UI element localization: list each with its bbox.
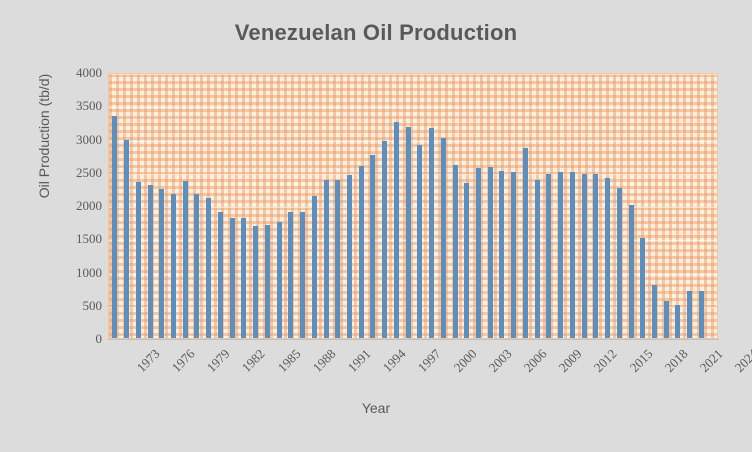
x-axis-tick: 2006 — [521, 346, 551, 376]
bar — [394, 122, 399, 338]
x-axis-tick: 1976 — [169, 346, 199, 376]
bar — [406, 127, 411, 338]
bar — [675, 305, 680, 338]
bar — [664, 301, 669, 338]
bar-series — [109, 74, 717, 338]
x-axis-tick: 1979 — [204, 346, 234, 376]
bar — [499, 171, 504, 338]
bar — [136, 182, 141, 338]
bar — [253, 226, 258, 338]
x-axis-tick: 1991 — [345, 346, 375, 376]
bar — [441, 138, 446, 338]
bar — [523, 148, 528, 338]
bar — [640, 238, 645, 338]
x-axis-tick: 1994 — [380, 346, 410, 376]
bar — [300, 212, 305, 338]
x-axis-tick: 2000 — [450, 346, 480, 376]
bar — [218, 212, 223, 338]
bar — [593, 174, 598, 338]
bar — [476, 168, 481, 338]
plot-area — [108, 73, 718, 339]
bar — [241, 218, 246, 338]
x-axis-tick: 1985 — [274, 346, 304, 376]
bar — [699, 291, 704, 338]
bar — [206, 198, 211, 338]
bar — [535, 180, 540, 338]
bar — [570, 172, 575, 338]
x-axis-tick: 2003 — [485, 346, 515, 376]
bar — [605, 178, 610, 338]
bar — [335, 180, 340, 338]
bar — [112, 116, 117, 338]
bar — [183, 181, 188, 338]
bar — [617, 188, 622, 338]
bar — [629, 205, 634, 338]
y-axis-tick: 500 — [40, 298, 102, 314]
x-axis-tick: 2012 — [591, 346, 621, 376]
x-axis-tick: 1997 — [415, 346, 445, 376]
bar — [582, 174, 587, 338]
x-axis-tick: 2018 — [661, 346, 691, 376]
bar — [429, 128, 434, 338]
bar — [124, 140, 129, 338]
bar — [464, 183, 469, 338]
y-axis-tick: 1000 — [40, 265, 102, 281]
x-axis-tick: 1973 — [133, 346, 163, 376]
chart-title: Venezuelan Oil Production — [0, 20, 752, 46]
x-axis-line — [108, 339, 719, 340]
bar — [417, 145, 422, 338]
x-axis-tick: 2024 — [732, 346, 752, 376]
bar — [324, 180, 329, 338]
x-axis-tick: 1982 — [239, 346, 269, 376]
bar — [652, 285, 657, 338]
bar — [312, 196, 317, 338]
x-axis-tick: 2009 — [556, 346, 586, 376]
bar — [687, 291, 692, 338]
bar — [277, 222, 282, 338]
bar — [453, 165, 458, 338]
y-axis-tick: 0 — [40, 331, 102, 347]
bar — [370, 155, 375, 338]
x-axis-tick: 2021 — [697, 346, 727, 376]
bar — [359, 166, 364, 338]
x-axis-tick: 1988 — [309, 346, 339, 376]
bar — [159, 189, 164, 338]
x-axis-title: Year — [0, 400, 752, 416]
y-axis-title: Oil Production (tb/d) — [36, 6, 52, 266]
bar — [347, 175, 352, 338]
bar — [546, 174, 551, 338]
x-axis-tick-labels: 1973197619791982198519881991199419972000… — [108, 342, 718, 400]
chart-container: Venezuelan Oil Production 40003500300025… — [0, 0, 752, 452]
x-axis-tick: 2015 — [626, 346, 656, 376]
bar — [288, 212, 293, 338]
bar — [488, 167, 493, 338]
bar — [382, 141, 387, 338]
bar — [230, 218, 235, 338]
bar — [558, 172, 563, 338]
bar — [148, 185, 153, 338]
bar — [511, 172, 516, 338]
bar — [171, 194, 176, 338]
bar — [265, 225, 270, 338]
bar — [194, 194, 199, 338]
